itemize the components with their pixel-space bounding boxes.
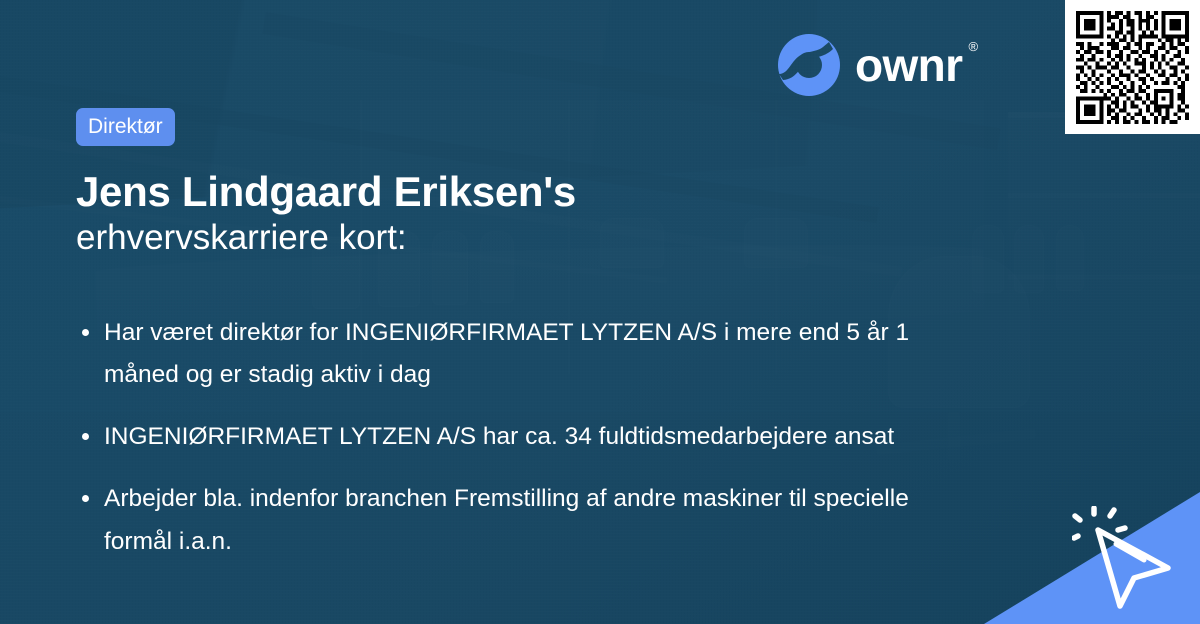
registered-trademark-icon: ® — [969, 40, 978, 53]
ownr-wordmark: ownr® — [855, 42, 962, 88]
list-item-text: INGENIØRFIRMAET LYTZEN A/S har ca. 34 fu… — [104, 423, 894, 450]
bullet-icon — [82, 433, 89, 440]
title-line-subtitle: erhvervskarriere kort: — [76, 217, 976, 260]
list-item-text: Arbejder bla. indenfor branchen Fremstil… — [104, 485, 909, 554]
role-badge: Direktør — [76, 108, 175, 146]
bullet-icon — [82, 329, 89, 336]
ownr-wordmark-text: ownr — [855, 39, 962, 91]
career-card: ownr® Direktør Jens Lindgaard Eriksen's … — [0, 0, 1200, 624]
list-item: Arbejder bla. indenfor branchen Fremstil… — [76, 478, 956, 562]
facts-list: Har været direktør for INGENIØRFIRMAET L… — [76, 312, 956, 563]
card-content: Direktør Jens Lindgaard Eriksen's erhver… — [76, 108, 976, 260]
qr-code[interactable] — [1076, 11, 1189, 124]
qr-code-panel[interactable] — [1065, 0, 1200, 134]
list-item: Har været direktør for INGENIØRFIRMAET L… — [76, 312, 956, 396]
ownr-logo[interactable]: ownr® — [777, 33, 962, 97]
title-line-name: Jens Lindgaard Eriksen's — [76, 168, 976, 215]
click-cursor-icon — [1072, 506, 1182, 610]
page-title: Jens Lindgaard Eriksen's erhvervskarrier… — [76, 168, 976, 260]
bullet-icon — [82, 495, 89, 502]
ownr-swirl-logo-icon — [777, 33, 841, 97]
list-item-text: Har været direktør for INGENIØRFIRMAET L… — [104, 319, 909, 388]
list-item: INGENIØRFIRMAET LYTZEN A/S har ca. 34 fu… — [76, 416, 956, 458]
